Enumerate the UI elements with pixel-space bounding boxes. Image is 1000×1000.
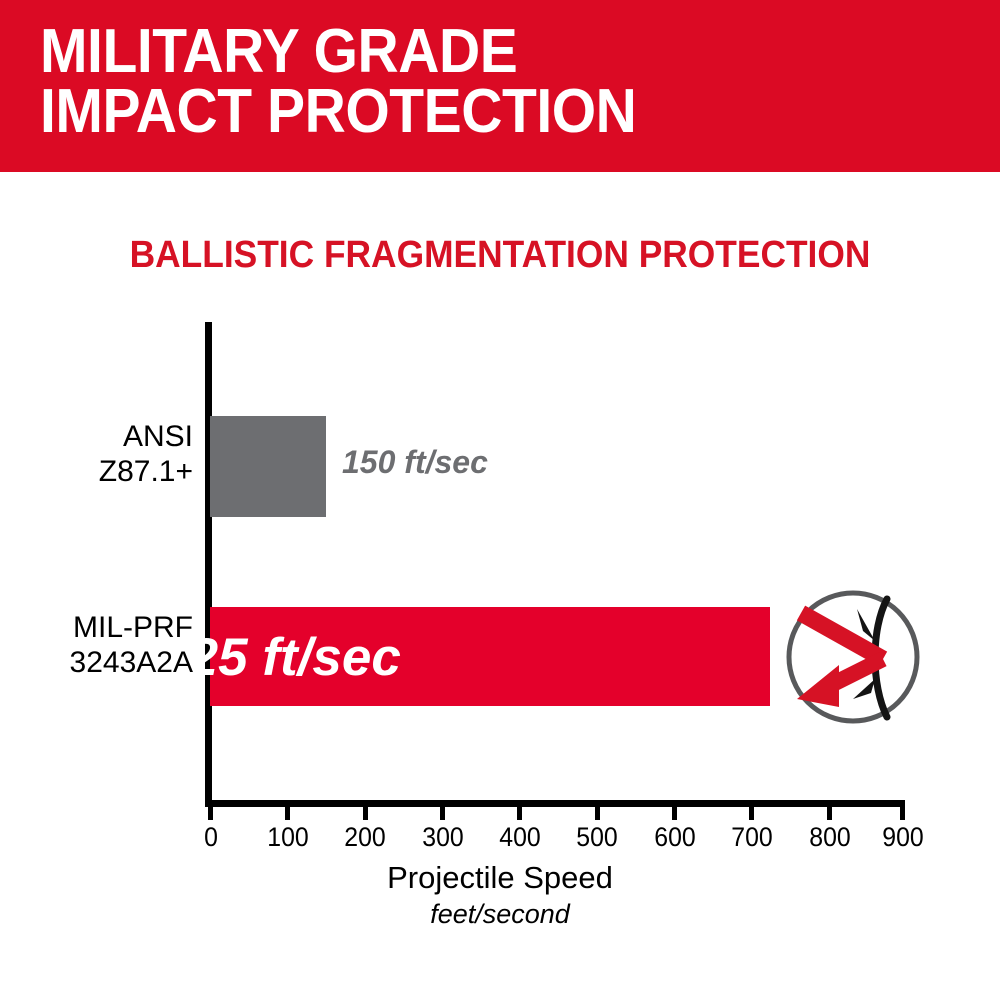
x-axis-title-main: Projectile Speed (0, 860, 1000, 896)
header-headline: MILITARY GRADE IMPACT PROTECTION (40, 22, 636, 142)
x-axis-tick-300 (440, 807, 445, 820)
x-axis-title: Projectile Speed feet/second (0, 860, 1000, 930)
x-axis-tick-800 (827, 807, 832, 820)
x-axis-tick-label-300: 300 (406, 822, 480, 853)
x-axis-tick-label-100: 100 (251, 822, 325, 853)
x-axis-tick-200 (363, 807, 368, 820)
category-label-mil-line2: 3243A2A (70, 646, 193, 679)
x-axis-title-units: feet/second (0, 899, 1000, 930)
y-axis-line (205, 322, 212, 805)
x-axis-line (205, 800, 905, 807)
x-axis-tick-500 (595, 807, 600, 820)
x-axis-tick-600 (672, 807, 677, 820)
x-axis-tick-label-0: 0 (174, 822, 248, 853)
x-axis-tick-700 (749, 807, 754, 820)
x-axis-tick-label-800: 800 (793, 822, 867, 853)
category-label-mil-prf: MIL-PRF 3243A2A (70, 610, 193, 680)
x-axis-tick-0 (208, 807, 213, 820)
x-axis-tick-400 (517, 807, 522, 820)
header-line-2: IMPACT PROTECTION (40, 77, 636, 146)
x-axis-tick-label-200: 200 (328, 822, 402, 853)
bar-ansi-z87 (210, 416, 326, 517)
x-axis-tick-900 (900, 807, 905, 820)
bar-value-ansi: 150 ft/sec (342, 444, 488, 481)
x-axis-tick-label-600: 600 (638, 822, 712, 853)
x-axis-tick-label-900: 900 (866, 822, 940, 853)
header-line-1: MILITARY GRADE (40, 17, 517, 86)
chart-panel: BALLISTIC FRAGMENTATION PROTECTION 0 100… (0, 172, 1000, 1000)
category-label-ansi: ANSI Z87.1+ (99, 419, 193, 489)
x-axis-tick-label-700: 700 (715, 822, 789, 853)
impact-ricochet-icon (783, 587, 923, 727)
x-axis-tick-label-500: 500 (560, 822, 634, 853)
x-axis-tick-100 (285, 807, 290, 820)
category-label-mil-line1: MIL-PRF (73, 611, 193, 644)
category-label-ansi-line1: ANSI (123, 420, 193, 453)
header-banner: MILITARY GRADE IMPACT PROTECTION (0, 0, 1000, 172)
x-axis-tick-label-400: 400 (483, 822, 557, 853)
category-label-ansi-line2: Z87.1+ (99, 455, 193, 488)
